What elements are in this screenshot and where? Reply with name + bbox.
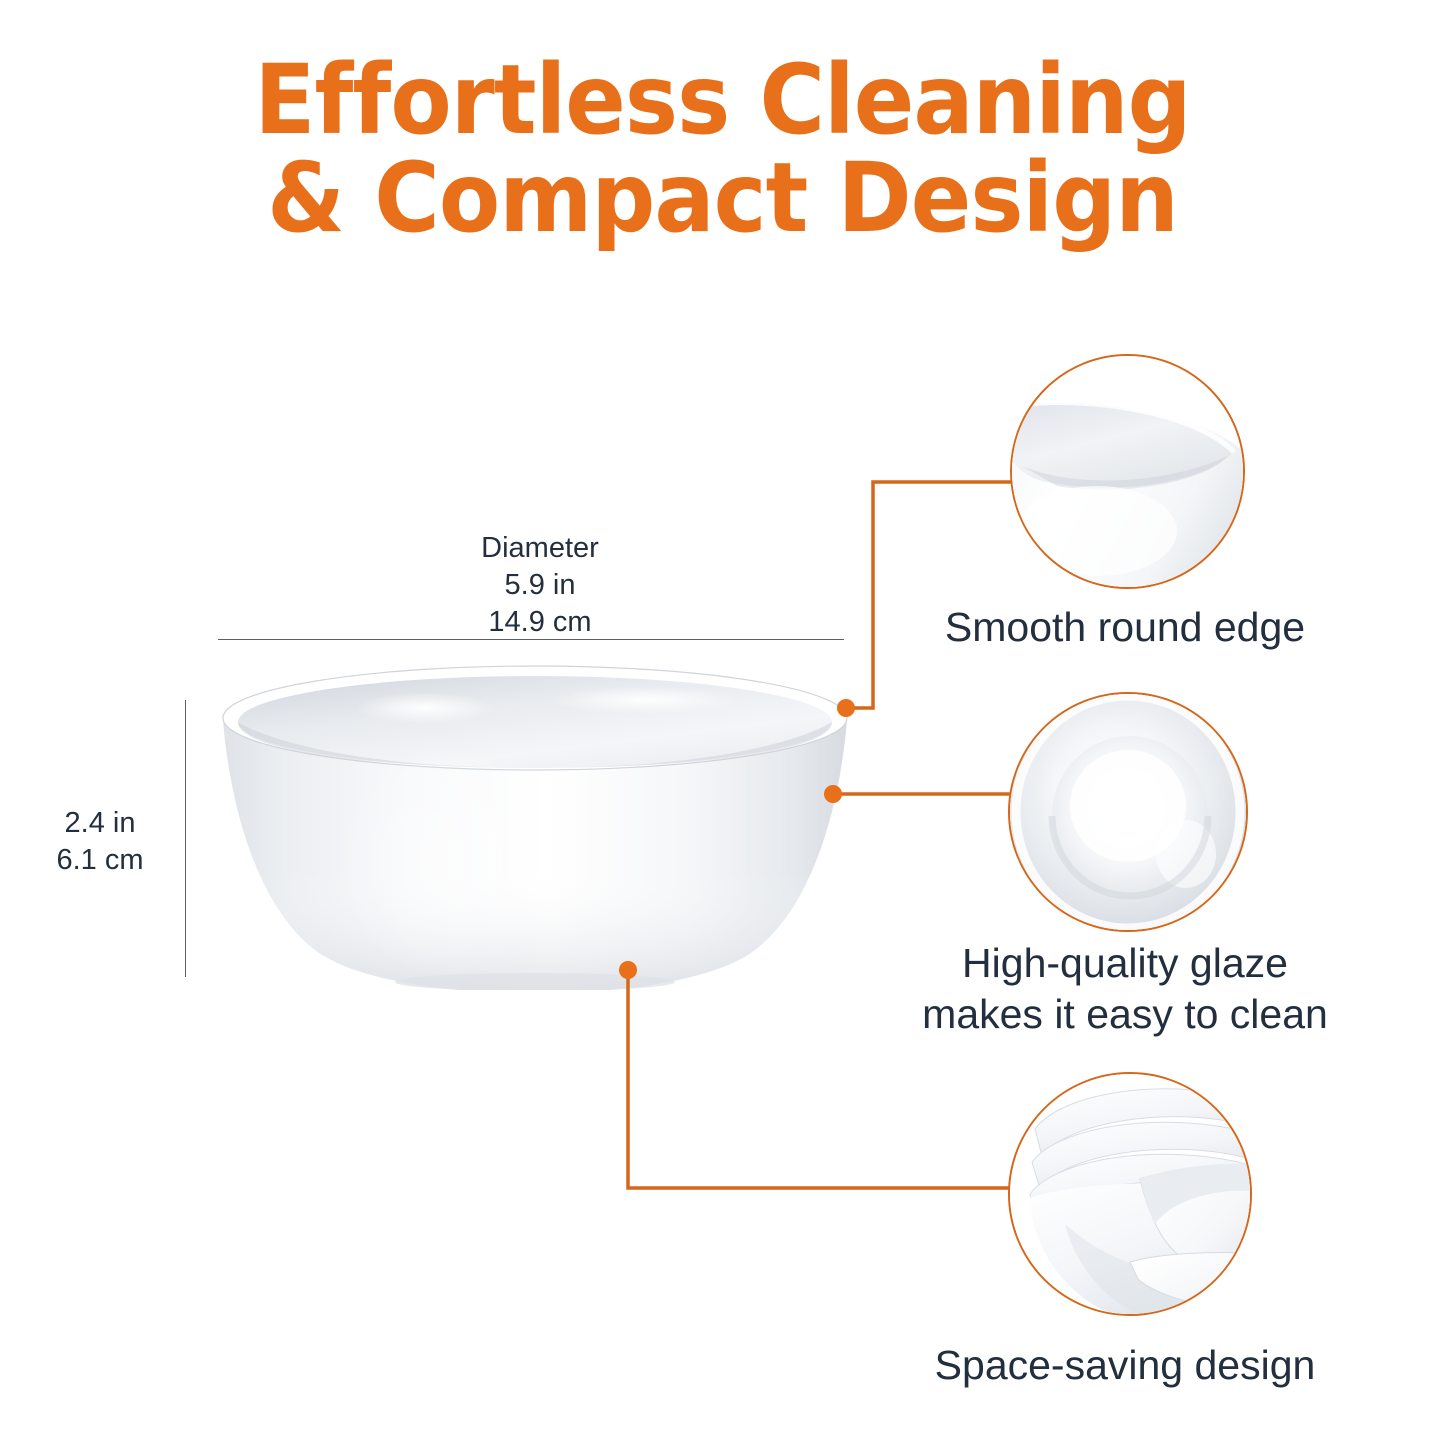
leader-line-smooth-round-edge bbox=[846, 482, 1020, 708]
callout-inset-high-quality-glaze bbox=[1008, 692, 1248, 932]
bowl-interior-top-view-image bbox=[1010, 694, 1246, 930]
stacked-bowls-image bbox=[1010, 1074, 1250, 1314]
height-measure-line bbox=[185, 700, 186, 977]
bowl-highlight-right bbox=[550, 686, 740, 714]
page-title: Effortless Cleaning & Compact Design bbox=[0, 52, 1445, 248]
diameter-dimension-label: Diameter 5.9 in 14.9 cm bbox=[380, 530, 700, 641]
bowl-body-highlight bbox=[335, 740, 555, 980]
callout-inset-space-saving-design bbox=[1008, 1072, 1252, 1316]
callout-inset-smooth-round-edge bbox=[1010, 354, 1245, 589]
product-image-bowl bbox=[215, 660, 855, 990]
height-dimension-label: 2.4 in 6.1 cm bbox=[30, 805, 170, 879]
callout-caption-high-quality-glaze: High-quality glaze makes it easy to clea… bbox=[865, 938, 1385, 1041]
callout-caption-space-saving-design: Space-saving design bbox=[865, 1340, 1385, 1391]
product-infographic: Effortless Cleaning & Compact Design Dia… bbox=[0, 0, 1445, 1445]
bowl-rim-closeup-image bbox=[1012, 356, 1243, 587]
bowl-highlight-left bbox=[355, 692, 495, 724]
rim-body-highlight bbox=[1017, 486, 1177, 576]
title-line-2: & Compact Design bbox=[51, 150, 1395, 248]
title-line-1: Effortless Cleaning bbox=[51, 52, 1395, 150]
callout-caption-smooth-round-edge: Smooth round edge bbox=[865, 602, 1385, 653]
